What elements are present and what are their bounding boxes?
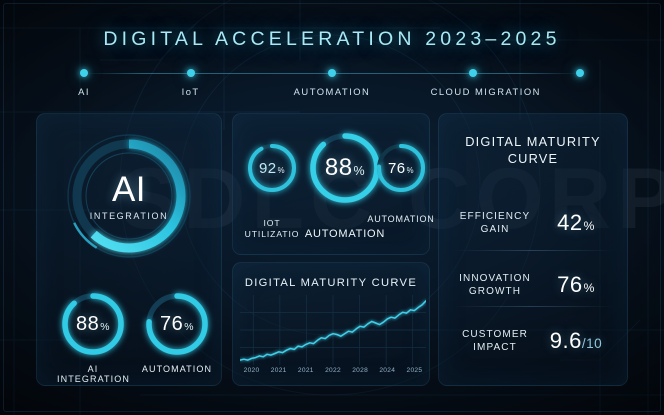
- gauge-automation-right[interactable]: 76%: [373, 140, 429, 196]
- timeline-node-1[interactable]: [187, 69, 195, 77]
- chart-tick-label: 2022: [325, 367, 341, 374]
- gauge-ai-integration-small[interactable]: 88% AI INTEGRATION: [57, 288, 129, 360]
- metric-value: 42%: [538, 210, 614, 236]
- metric-value: 9.6/10: [538, 328, 614, 354]
- gauge-caption-automation-mid: AUTOMATION: [288, 228, 402, 240]
- chart-title: DIGITAL MATURITY CURVE: [232, 277, 430, 289]
- metric-value: 76%: [538, 272, 614, 298]
- metric-row-innovation-growth[interactable]: INNOVATION GROWTH 76%: [452, 255, 614, 315]
- digital-maturity-line-chart: [240, 295, 426, 365]
- chart-tick-label: 2020: [244, 367, 260, 374]
- metric-row-efficiency-gain[interactable]: EFFICIENCY GAIN 42%: [452, 193, 614, 253]
- timeline-label-cloud-migration[interactable]: CLOUD MIGRATION: [431, 86, 541, 97]
- timeline-node-0[interactable]: [80, 69, 88, 77]
- timeline-node-3[interactable]: [469, 69, 477, 77]
- metric-row-customer-impact[interactable]: CUSTOMER IMPACT 9.6/10: [452, 311, 614, 371]
- chart-tick-label: 2021: [298, 367, 314, 374]
- chart-x-axis-ticks: 2020202120212022202820242025: [238, 367, 428, 381]
- timeline: AI IoT AUTOMATION CLOUD MIGRATION: [84, 68, 580, 108]
- chart-tick-label: 2024: [379, 367, 395, 374]
- gauge-caption-automation-right: AUTOMATION: [356, 214, 446, 224]
- chart-tick-label: 2021: [271, 367, 287, 374]
- gauge-ai-integration-main[interactable]: AI INTEGRATION: [59, 126, 199, 266]
- timeline-node-2[interactable]: [328, 69, 336, 77]
- metric-label: INNOVATION GROWTH: [452, 272, 538, 298]
- timeline-label-ai[interactable]: AI: [78, 86, 90, 97]
- page-title: DIGITAL ACCELERATION 2023–2025: [0, 28, 664, 51]
- metrics-panel-title: DIGITAL MATURITY CURVE: [446, 133, 620, 168]
- chart-tick-label: 2028: [352, 367, 368, 374]
- timeline-label-automation[interactable]: AUTOMATION: [294, 86, 371, 97]
- timeline-label-iot[interactable]: IoT: [182, 86, 200, 97]
- chart-tick-label: 2025: [406, 367, 422, 374]
- gauge-iot-utilization[interactable]: 92%: [244, 140, 300, 196]
- gauge-caption: AI INTEGRATION: [57, 364, 129, 385]
- metric-label: CUSTOMER IMPACT: [452, 328, 538, 354]
- gauge-caption: AUTOMATION: [141, 364, 213, 374]
- timeline-node-4[interactable]: [576, 69, 584, 77]
- gauge-automation-small[interactable]: 76% AUTOMATION: [141, 288, 213, 360]
- metric-label: EFFICIENCY GAIN: [452, 210, 538, 236]
